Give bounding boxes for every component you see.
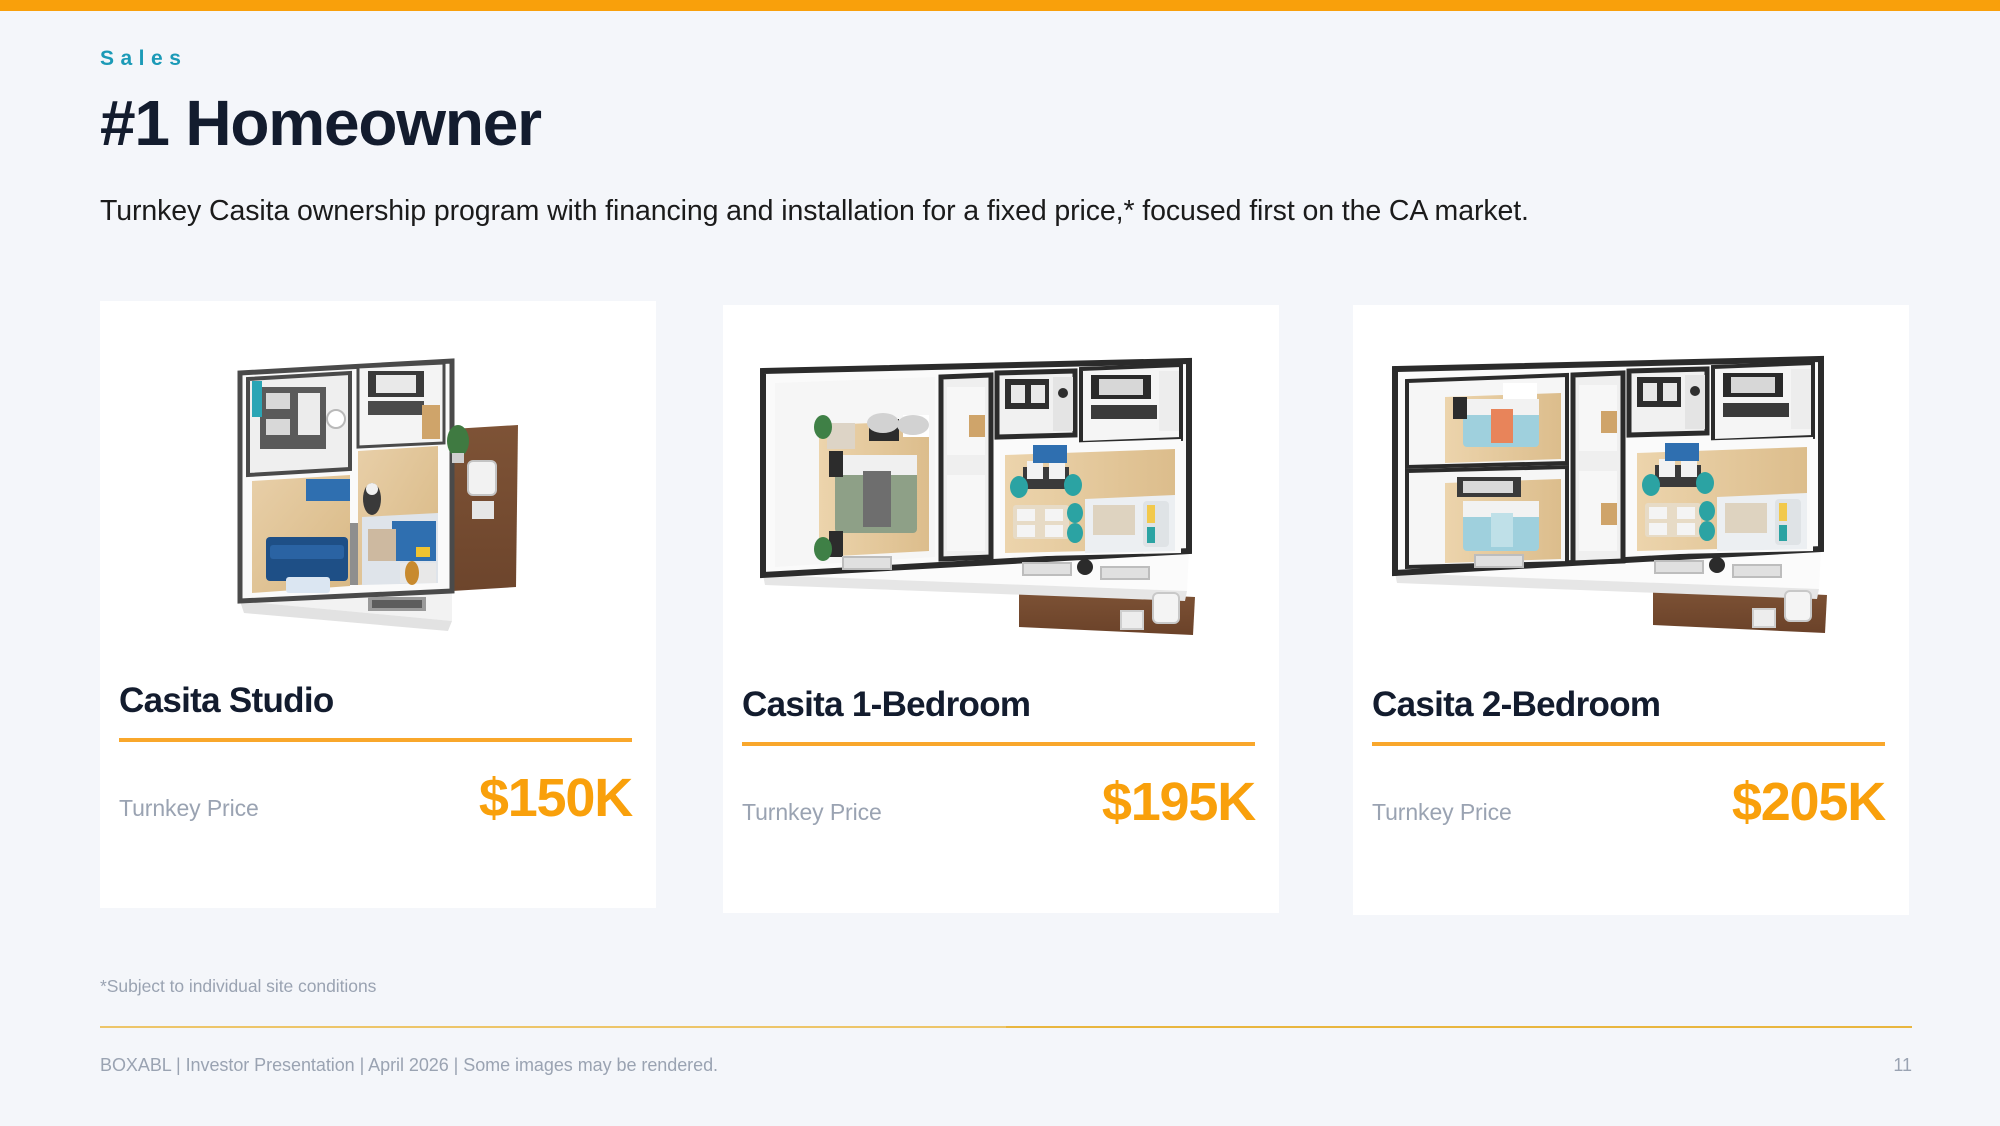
price-label: Turnkey Price xyxy=(119,795,259,822)
card-media xyxy=(723,305,1279,687)
price-row: Turnkey Price $195K xyxy=(742,775,1255,829)
pricing-card-casita-1-bedroom[interactable]: Casita 1-Bedroom Turnkey Price $195K xyxy=(723,305,1279,913)
footnote: *Subject to individual site conditions xyxy=(100,976,376,997)
card-media xyxy=(100,301,656,683)
price-label: Turnkey Price xyxy=(742,799,882,826)
card-divider xyxy=(742,742,1255,746)
card-body: Casita Studio Turnkey Price $150K xyxy=(100,683,656,825)
slide-header: Sales #1 Homeowner Turnkey Casita owners… xyxy=(100,48,1920,230)
page-number: 11 xyxy=(1893,1055,1912,1076)
card-body: Casita 2-Bedroom Turnkey Price $205K xyxy=(1353,687,1909,829)
card-title: Casita Studio xyxy=(119,683,632,720)
section-eyebrow: Sales xyxy=(100,48,1920,69)
card-media xyxy=(1353,305,1909,687)
price-value: $150K xyxy=(479,771,632,825)
pricing-card-row: Casita Studio Turnkey Price $150K xyxy=(100,301,1910,916)
price-value: $195K xyxy=(1102,775,1255,829)
footer-divider xyxy=(100,1026,1912,1028)
card-title: Casita 1-Bedroom xyxy=(742,687,1255,724)
casita-2-bedroom-floorplan-render xyxy=(1353,305,1909,687)
card-body: Casita 1-Bedroom Turnkey Price $195K xyxy=(723,687,1279,829)
card-divider xyxy=(119,738,632,742)
card-title: Casita 2-Bedroom xyxy=(1372,687,1885,724)
price-row: Turnkey Price $150K xyxy=(119,771,632,825)
footer-meta: BOXABL | Investor Presentation | April 2… xyxy=(100,1055,718,1076)
top-accent-bar xyxy=(0,0,2000,11)
page-subtitle: Turnkey Casita ownership program with fi… xyxy=(100,194,1920,230)
card-divider xyxy=(1372,742,1885,746)
pricing-card-casita-studio[interactable]: Casita Studio Turnkey Price $150K xyxy=(100,301,656,908)
price-value: $205K xyxy=(1732,775,1885,829)
casita-1-bedroom-floorplan-render xyxy=(723,305,1279,687)
price-row: Turnkey Price $205K xyxy=(1372,775,1885,829)
casita-studio-floorplan-render xyxy=(100,301,656,683)
page-title: #1 Homeowner xyxy=(100,91,1920,156)
price-label: Turnkey Price xyxy=(1372,799,1512,826)
slide-footer: BOXABL | Investor Presentation | April 2… xyxy=(100,1055,1912,1076)
pricing-card-casita-2-bedroom[interactable]: Casita 2-Bedroom Turnkey Price $205K xyxy=(1353,305,1909,915)
